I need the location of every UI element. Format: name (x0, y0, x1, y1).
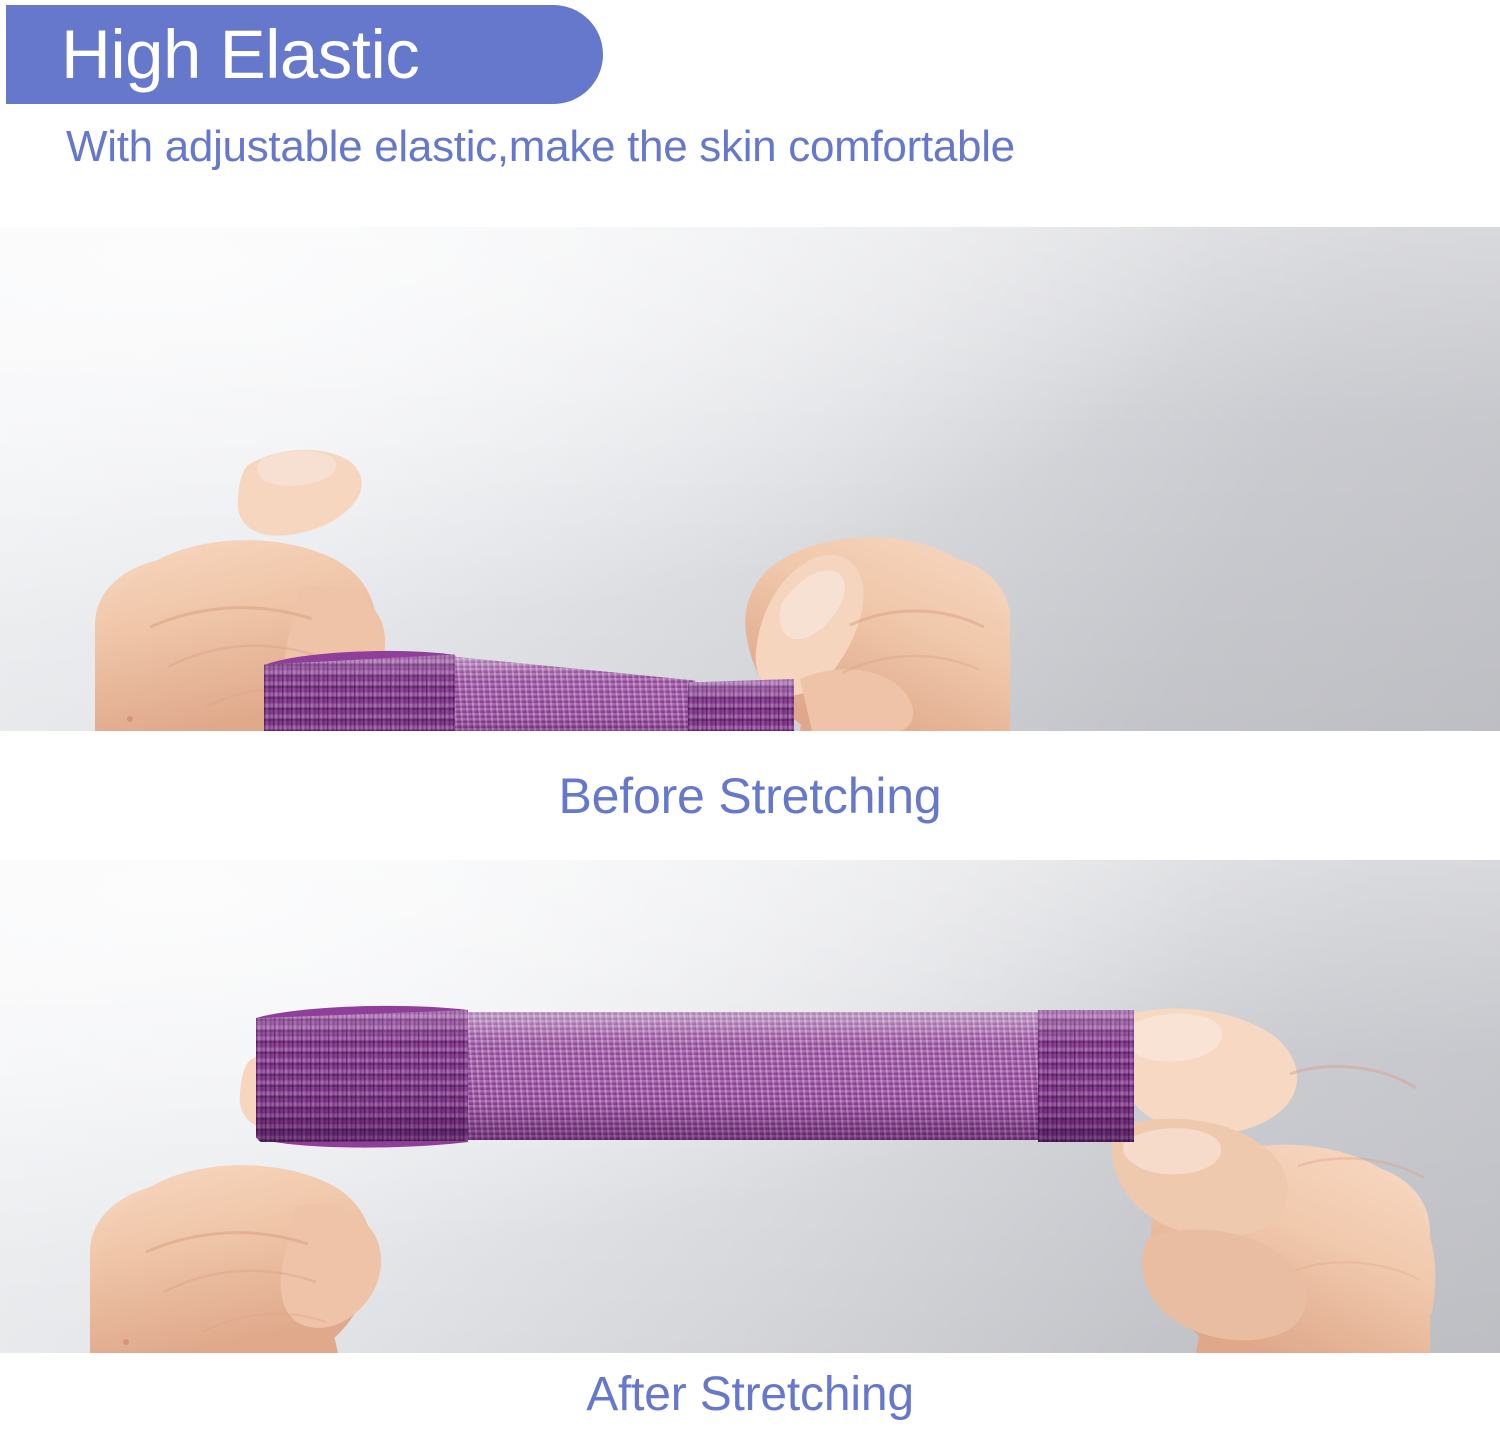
photo-after-stretching (0, 860, 1500, 1353)
caption-before-label: Before Stretching (559, 771, 942, 821)
right-hand (1111, 1009, 1435, 1353)
caption-after-stretching: After Stretching (0, 1353, 1500, 1436)
tape-strip-unstretched-end (688, 679, 794, 731)
tape-roll-texture (256, 1006, 468, 1142)
feature-badge: High Elastic (6, 5, 603, 104)
product-infographic: High Elastic With adjustable elastic,mak… (0, 0, 1500, 1436)
caption-before-stretching: Before Stretching (0, 731, 1500, 860)
photo-before-illustration (0, 227, 1500, 731)
header-subtitle: With adjustable elastic,make the skin co… (66, 123, 1015, 171)
photo-before-stretching (0, 227, 1500, 731)
tape-strip-unstretched-end (1038, 1010, 1134, 1142)
header: High Elastic With adjustable elastic,mak… (0, 0, 1500, 212)
caption-after-label: After Stretching (586, 1371, 914, 1419)
tape-strip-texture (468, 1012, 1038, 1140)
feature-badge-label: High Elastic (6, 20, 419, 89)
